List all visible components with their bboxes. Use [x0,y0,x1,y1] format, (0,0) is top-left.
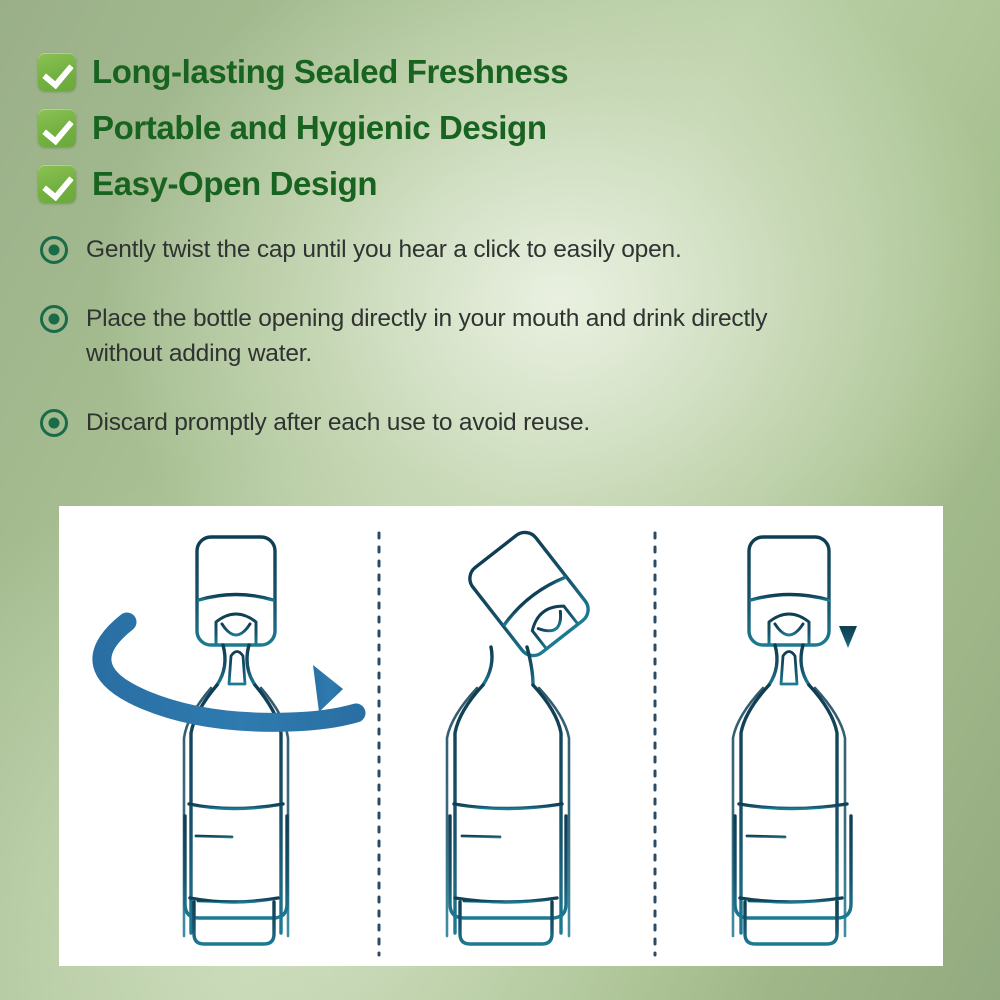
instruction-list: Gently twist the cap until you hear a cl… [40,232,830,474]
feature-label: Long-lasting Sealed Freshness [92,53,568,91]
bottle-with-tilted-cap-icon [447,527,594,944]
check-square-icon [38,109,76,147]
instruction-text: Discard promptly after each use to avoid… [86,405,590,440]
down-arrow-icon [839,582,857,648]
instruction-item-3: Discard promptly after each use to avoid… [40,405,830,440]
radio-dot-icon [40,409,68,437]
radio-dot-icon [40,236,68,264]
radio-dot-icon [40,305,68,333]
feature-list: Long-lasting Sealed Freshness Portable a… [38,44,738,212]
instruction-text: Place the bottle opening directly in you… [86,301,826,371]
feature-item-2: Portable and Hygienic Design [38,100,738,156]
feature-label: Portable and Hygienic Design [92,109,547,147]
instruction-item-2: Place the bottle opening directly in you… [40,301,830,371]
bottle-with-rotation-arrow-icon [184,537,288,944]
instruction-text: Gently twist the cap until you hear a cl… [86,232,682,267]
check-square-icon [38,165,76,203]
illustration-panel [59,506,943,966]
feature-item-1: Long-lasting Sealed Freshness [38,44,738,100]
instruction-item-1: Gently twist the cap until you hear a cl… [40,232,830,267]
check-square-icon [38,53,76,91]
feature-item-3: Easy-Open Design [38,156,738,212]
bottle-with-cap-pressed-icon [733,537,851,944]
feature-label: Easy-Open Design [92,165,377,203]
